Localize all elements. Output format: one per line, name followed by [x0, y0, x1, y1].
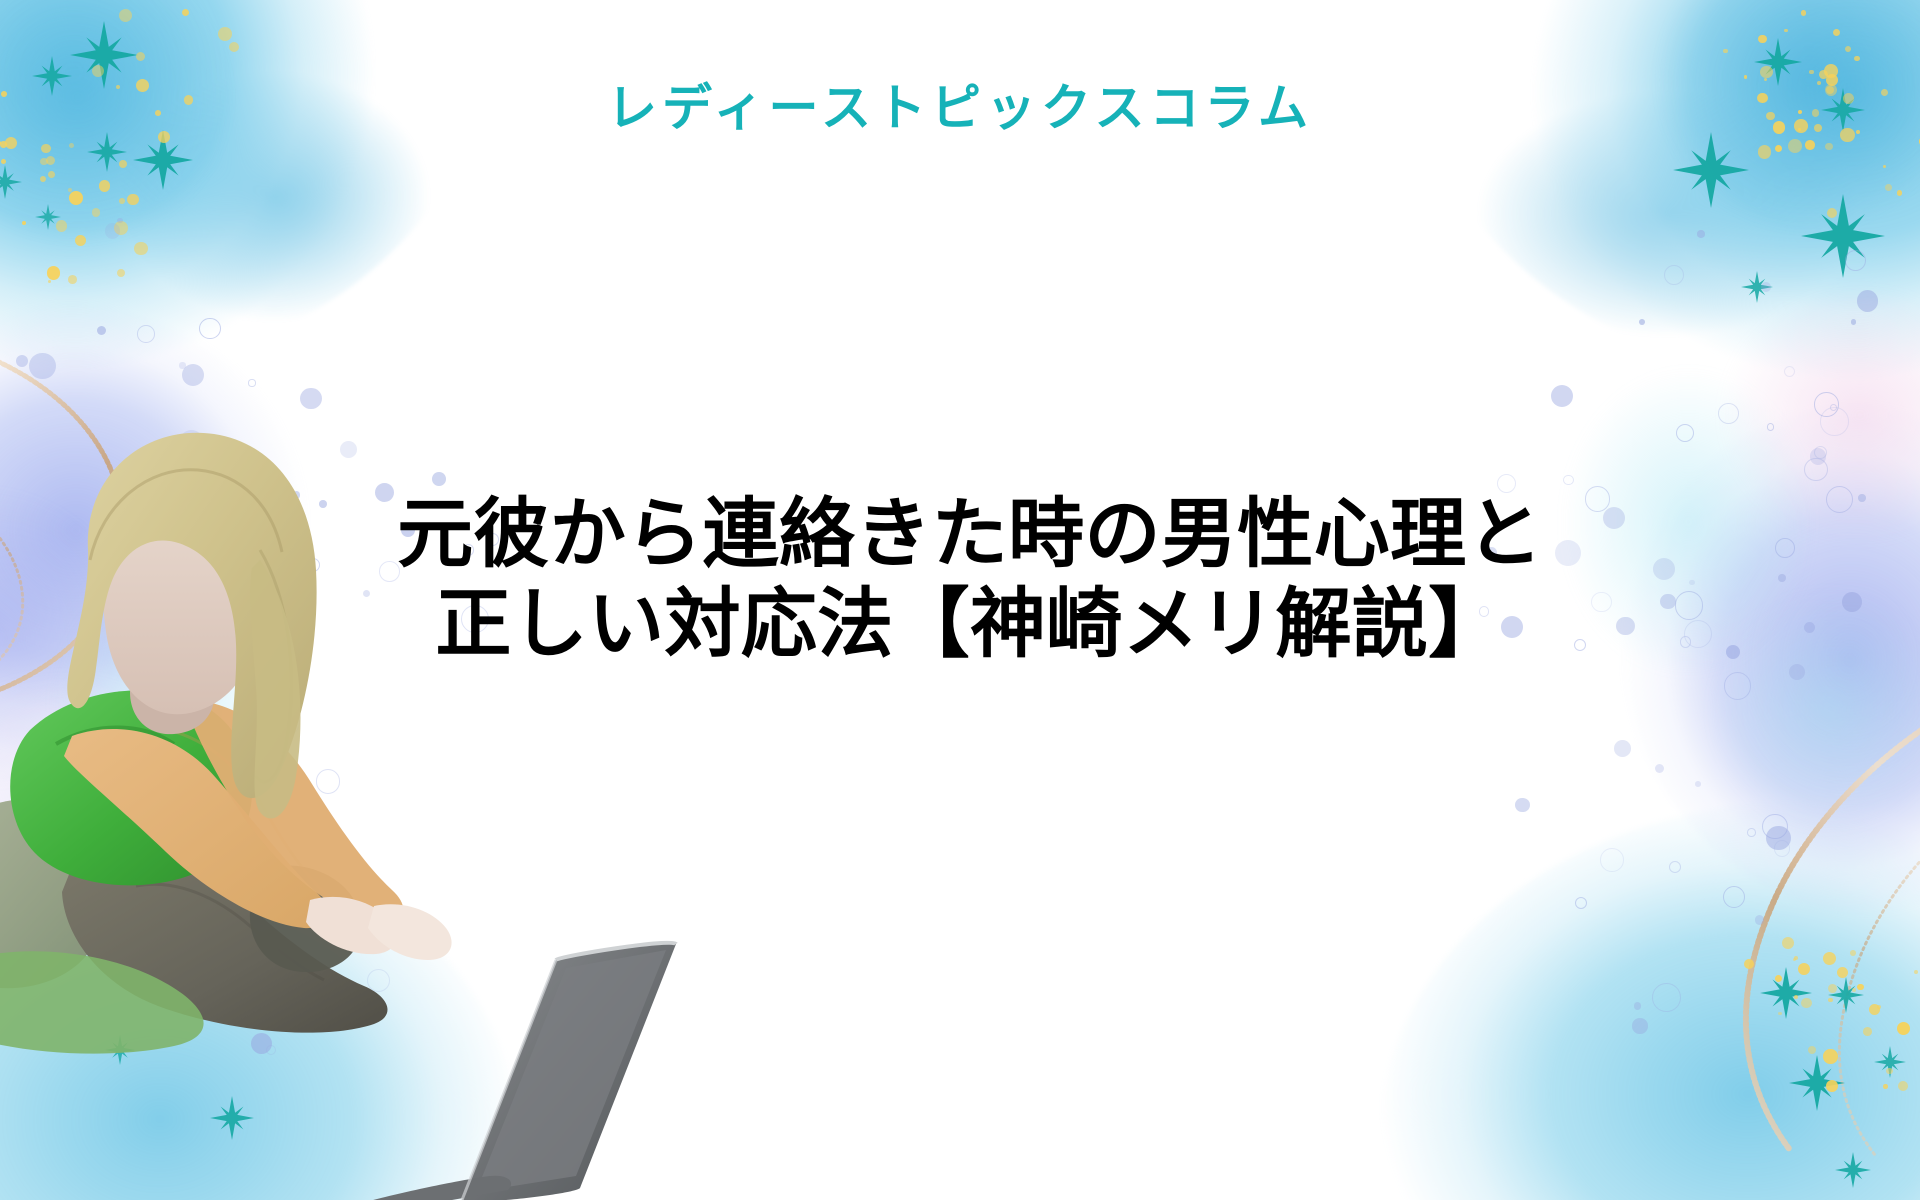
bubble-ring	[1723, 886, 1745, 908]
gold-speck	[1886, 1068, 1893, 1075]
bubble-dot	[1655, 764, 1664, 773]
bubble-ring	[199, 318, 220, 339]
sparkle-star-icon	[1789, 1055, 1845, 1111]
gold-speck	[1854, 56, 1860, 62]
gold-speck	[1828, 984, 1837, 993]
gold-speck	[1845, 46, 1851, 52]
gold-speck	[0, 141, 6, 147]
gold-speck	[92, 208, 100, 216]
bubble-ring	[1676, 424, 1694, 442]
bubble-ring	[1664, 265, 1684, 285]
bubble-dot	[1766, 826, 1791, 851]
bubble-dot	[117, 218, 122, 223]
gold-speck	[48, 171, 55, 178]
sparkle-star-icon	[87, 132, 127, 172]
gold-speck	[1885, 184, 1892, 191]
gold-speck	[1805, 140, 1814, 149]
bubble-dot	[1634, 1002, 1642, 1010]
gold-speck	[119, 198, 125, 204]
bubble-dot	[1632, 1018, 1648, 1034]
bubble-dot	[1778, 574, 1786, 582]
gold-speck	[127, 194, 138, 205]
woman-with-laptop-illustration	[0, 400, 840, 1200]
gold-speck	[1833, 29, 1840, 36]
bubble-ring	[1820, 407, 1848, 435]
sparkle-star-icon	[1835, 1152, 1871, 1188]
gold-speck	[1808, 1046, 1816, 1054]
gold-speck	[69, 143, 74, 148]
gold-speck	[0, 141, 1, 145]
category-label: レディーストピックスコラム	[0, 78, 1920, 138]
bubble-dot	[1789, 664, 1805, 680]
bubble-dot	[1842, 592, 1862, 612]
gold-speck	[1914, 970, 1918, 974]
bubble-dot	[1653, 558, 1675, 580]
gold-speck	[1827, 208, 1837, 218]
bubble-dot	[16, 355, 28, 367]
sparkle-star-icon	[1741, 271, 1773, 303]
bubble-ring	[1845, 250, 1866, 271]
gold-speck	[41, 144, 51, 154]
bubble-ring	[1684, 620, 1712, 648]
watercolor-blob-top-left-inner	[0, 0, 310, 300]
gold-speck	[1850, 950, 1856, 956]
bubble-ring	[1767, 423, 1774, 430]
gold-speck	[1793, 958, 1796, 961]
gold-speck	[1863, 1027, 1872, 1036]
bubble-dot	[1726, 645, 1740, 659]
gold-speck	[1823, 1049, 1838, 1064]
bubble-ring	[137, 325, 155, 343]
gold-speck	[1883, 1084, 1888, 1089]
bubble-ring	[1669, 861, 1681, 873]
sparkle-star-icon	[1874, 1046, 1906, 1078]
gold-speck	[1801, 998, 1811, 1008]
gold-speck	[40, 158, 48, 166]
cyan-blob-right-lower	[1680, 560, 1920, 860]
bubble-dot	[1810, 448, 1827, 465]
bubble-dot	[29, 353, 55, 379]
bubble-ring	[1814, 446, 1827, 459]
gold-speck	[5, 137, 17, 149]
bubble-dot	[1755, 915, 1765, 925]
sparkle-star-icon	[0, 165, 22, 199]
laptop-shape	[328, 943, 676, 1200]
bubble-dot	[1660, 594, 1675, 609]
gold-speck	[119, 160, 127, 168]
gold-speck	[1877, 1005, 1881, 1009]
bubble-dot	[105, 223, 120, 238]
sparkle-star-icon	[133, 130, 193, 190]
gold-speck	[1784, 29, 1787, 32]
gold-speck	[1824, 64, 1838, 78]
gold-speck	[1794, 995, 1798, 999]
sparkle-star-icon	[35, 204, 61, 230]
bubble-dot	[1804, 622, 1815, 633]
bubble-dot	[182, 364, 204, 386]
gold-speck	[1782, 937, 1795, 950]
bubble-ring	[1775, 538, 1795, 558]
bubble-dot	[1851, 319, 1856, 324]
watercolor-blob-top-left	[0, 0, 490, 370]
gold-speck	[1775, 975, 1782, 982]
gold-speck	[1897, 1022, 1910, 1035]
bubble-dot	[1639, 319, 1645, 325]
gold-speck	[99, 180, 110, 191]
periwinkle-blob-right	[1620, 400, 1920, 920]
pink-blob-right-upper	[1680, 250, 1920, 580]
gold-speck	[1723, 49, 1727, 53]
bubble-dot	[1515, 798, 1529, 812]
bubble-ring	[1747, 828, 1756, 837]
bubble-ring	[1563, 475, 1573, 485]
gold-speck	[1823, 952, 1837, 966]
bubble-dot	[179, 362, 185, 368]
bubble-dot	[1551, 385, 1573, 407]
gold-speck	[1758, 145, 1772, 159]
gold-speck	[69, 191, 83, 205]
gold-speck	[1857, 984, 1864, 991]
bubble-ring	[1762, 814, 1787, 839]
bubble-ring	[248, 379, 255, 386]
gold-glitter-right	[1640, 640, 1920, 1160]
bubble-ring	[1675, 591, 1703, 619]
bubble-ring	[1774, 840, 1790, 856]
thumbnail-canvas: レディーストピックスコラム 元彼から連絡きた時の男性心理と 正しい対応法【神崎メ…	[0, 0, 1920, 1200]
bubble-dot	[1689, 580, 1694, 585]
gold-speck	[68, 275, 77, 284]
gold-speck	[1758, 35, 1767, 44]
gold-speck	[48, 280, 51, 283]
gold-speck	[229, 42, 239, 52]
bubble-ring	[1680, 636, 1691, 647]
bubble-ring	[1724, 672, 1752, 700]
gold-speck	[1809, 70, 1814, 75]
bubble-dot	[1697, 230, 1704, 237]
gold-speck	[1852, 988, 1856, 992]
bubble-ring	[1600, 848, 1624, 872]
watercolor-blob-bottom-right	[1380, 800, 1920, 1200]
gold-speck	[68, 188, 72, 192]
gold-speck	[46, 156, 55, 165]
gold-speck	[114, 221, 128, 235]
sparkle-star-icon	[1760, 967, 1812, 1019]
gold-speck	[1828, 998, 1832, 1002]
gold-speck	[1744, 959, 1754, 969]
bubble-dot	[1857, 290, 1879, 312]
gold-speck	[1775, 145, 1782, 152]
sparkle-star-icon	[1673, 132, 1749, 208]
bubble-dot	[1614, 740, 1631, 757]
gold-speck	[56, 220, 68, 232]
sparkle-star-icon	[1828, 977, 1864, 1013]
bubble-ring	[1814, 392, 1838, 416]
bubble-dot	[1695, 781, 1701, 787]
bubble-ring	[1784, 366, 1795, 377]
gold-speck	[1778, 1012, 1781, 1015]
gold-speck	[92, 65, 104, 77]
gold-speck	[136, 52, 145, 61]
watercolor-blob-top-right	[1410, 0, 1920, 380]
gold-speck	[117, 269, 125, 277]
bubble-ring	[1804, 458, 1828, 482]
bubble-ring	[1718, 403, 1739, 424]
gold-speck	[1826, 1080, 1838, 1092]
watercolor-blob-top-right-inner	[1590, 0, 1920, 280]
gold-speck	[1788, 139, 1802, 153]
gold-speck	[1869, 1004, 1880, 1015]
gold-speck	[47, 266, 60, 279]
gold-speck	[1, 159, 6, 164]
bubble-ring	[1652, 983, 1681, 1012]
gold-speck	[1883, 165, 1886, 168]
bubble-dot	[1761, 282, 1771, 292]
bubble-dot	[1858, 494, 1866, 502]
gold-speck	[22, 221, 26, 225]
gold-speck	[1798, 963, 1810, 975]
gold-speck	[1760, 66, 1772, 78]
gold-speck	[1897, 190, 1903, 196]
gold-speck	[134, 242, 148, 256]
gold-speck	[1794, 956, 1799, 961]
gold-speck	[1837, 967, 1848, 978]
gold-speck	[75, 235, 86, 246]
gold-speck	[1801, 10, 1806, 15]
sparkle-star-icon	[1801, 194, 1885, 278]
gold-speck	[218, 27, 232, 41]
gold-speck	[40, 176, 46, 182]
gold-speck	[119, 9, 132, 22]
gold-speck	[182, 9, 190, 17]
gold-speck	[1898, 1081, 1908, 1091]
bubble-ring	[1830, 404, 1837, 411]
bubble-dot	[97, 326, 106, 335]
gold-speck	[1825, 143, 1833, 151]
bubble-ring	[1826, 486, 1853, 513]
bubble-ring	[1575, 897, 1587, 909]
